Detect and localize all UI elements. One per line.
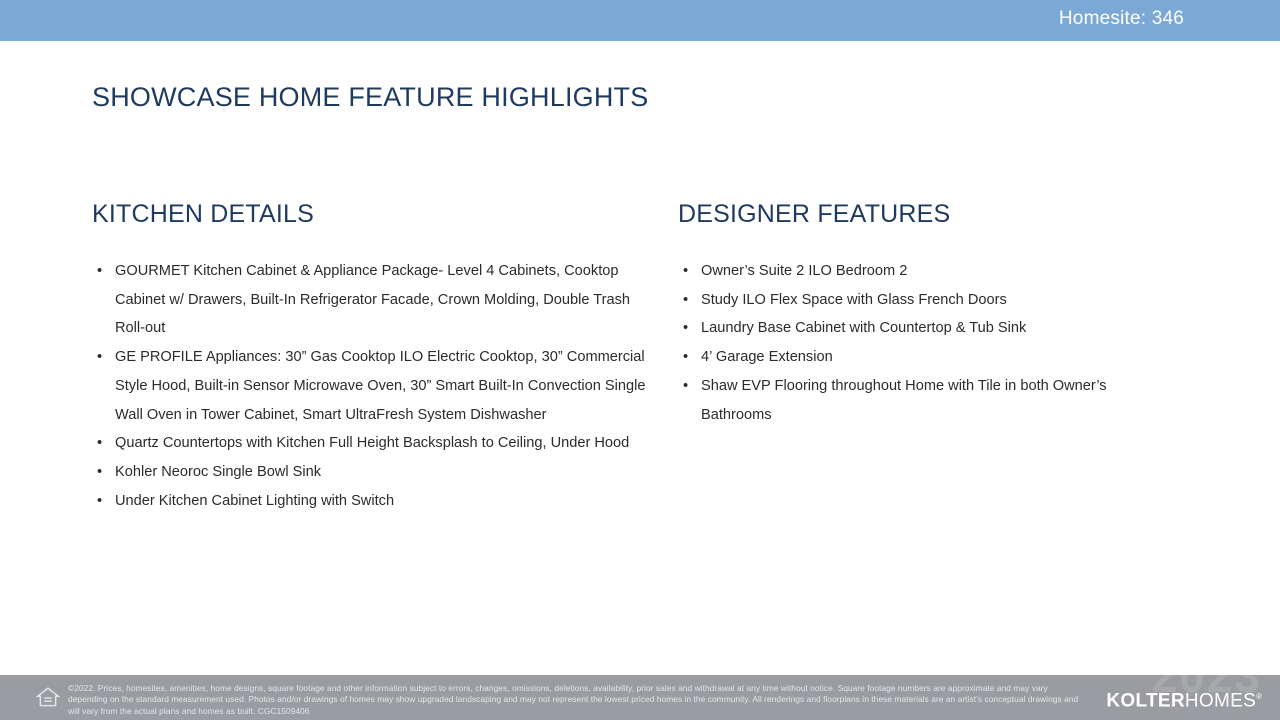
list-item-text: GE PROFILE Appliances: 30” Gas Cooktop I… <box>115 343 652 429</box>
list-item-text: 4’ Garage Extension <box>701 343 1178 372</box>
list-item-text: Owner’s Suite 2 ILO Bedroom 2 <box>701 257 1178 286</box>
bullet-icon: • <box>683 372 688 401</box>
list-item: • Quartz Countertops with Kitchen Full H… <box>92 429 652 458</box>
designer-features-list: • Owner’s Suite 2 ILO Bedroom 2 • Study … <box>678 257 1178 429</box>
list-item-text: Quartz Countertops with Kitchen Full Hei… <box>115 429 652 458</box>
list-item: • Owner’s Suite 2 ILO Bedroom 2 <box>678 257 1178 286</box>
list-item: • Laundry Base Cabinet with Countertop &… <box>678 314 1178 343</box>
bullet-icon: • <box>97 257 102 286</box>
footer-fineprint: ©2022. Prices, homesites, amenities, hom… <box>68 683 1088 717</box>
list-item-text: Laundry Base Cabinet with Countertop & T… <box>701 314 1178 343</box>
list-item-text: GOURMET Kitchen Cabinet & Appliance Pack… <box>115 257 652 343</box>
kolter-homes-logo: KOLTERHOMES® <box>1106 686 1262 712</box>
slide-canvas: Homesite: 346 SHOWCASE HOME FEATURE HIGH… <box>0 0 1280 720</box>
bullet-icon: • <box>683 257 688 286</box>
registered-trademark-icon: ® <box>1256 692 1262 701</box>
list-item: • GOURMET Kitchen Cabinet & Appliance Pa… <box>92 257 652 343</box>
list-item: • 4’ Garage Extension <box>678 343 1178 372</box>
bullet-icon: • <box>97 458 102 487</box>
list-item: • Study ILO Flex Space with Glass French… <box>678 286 1178 315</box>
logo-bold-part: KOLTER <box>1106 690 1185 711</box>
list-item: • Shaw EVP Flooring throughout Home with… <box>678 372 1178 429</box>
equal-housing-opportunity-icon <box>36 686 60 708</box>
kitchen-details-list: • GOURMET Kitchen Cabinet & Appliance Pa… <box>92 257 652 515</box>
bullet-icon: • <box>683 286 688 315</box>
logo-light-part: HOMES <box>1185 690 1256 711</box>
bullet-icon: • <box>97 429 102 458</box>
list-item: • Under Kitchen Cabinet Lighting with Sw… <box>92 487 652 516</box>
bullet-icon: • <box>683 343 688 372</box>
bullet-icon: • <box>683 314 688 343</box>
bullet-icon: • <box>97 487 102 516</box>
bullet-icon: • <box>97 343 102 372</box>
list-item-text: Under Kitchen Cabinet Lighting with Swit… <box>115 487 652 516</box>
homesite-label: Homesite: 346 <box>1059 8 1184 30</box>
designer-features-heading: DESIGNER FEATURES <box>678 200 1178 229</box>
header-bar: Homesite: 346 <box>0 0 1280 41</box>
kitchen-details-heading: KITCHEN DETAILS <box>92 200 652 229</box>
column-kitchen-details: KITCHEN DETAILS • GOURMET Kitchen Cabine… <box>92 200 652 515</box>
footer-bar: 2023 ©2022. Prices, homesites, amenities… <box>0 675 1280 720</box>
list-item-text: Shaw EVP Flooring throughout Home with T… <box>701 372 1178 429</box>
column-designer-features: DESIGNER FEATURES • Owner’s Suite 2 ILO … <box>678 200 1178 429</box>
list-item-text: Kohler Neoroc Single Bowl Sink <box>115 458 652 487</box>
list-item-text: Study ILO Flex Space with Glass French D… <box>701 286 1178 315</box>
list-item: • GE PROFILE Appliances: 30” Gas Cooktop… <box>92 343 652 429</box>
page-title: SHOWCASE HOME FEATURE HIGHLIGHTS <box>92 82 648 113</box>
list-item: • Kohler Neoroc Single Bowl Sink <box>92 458 652 487</box>
